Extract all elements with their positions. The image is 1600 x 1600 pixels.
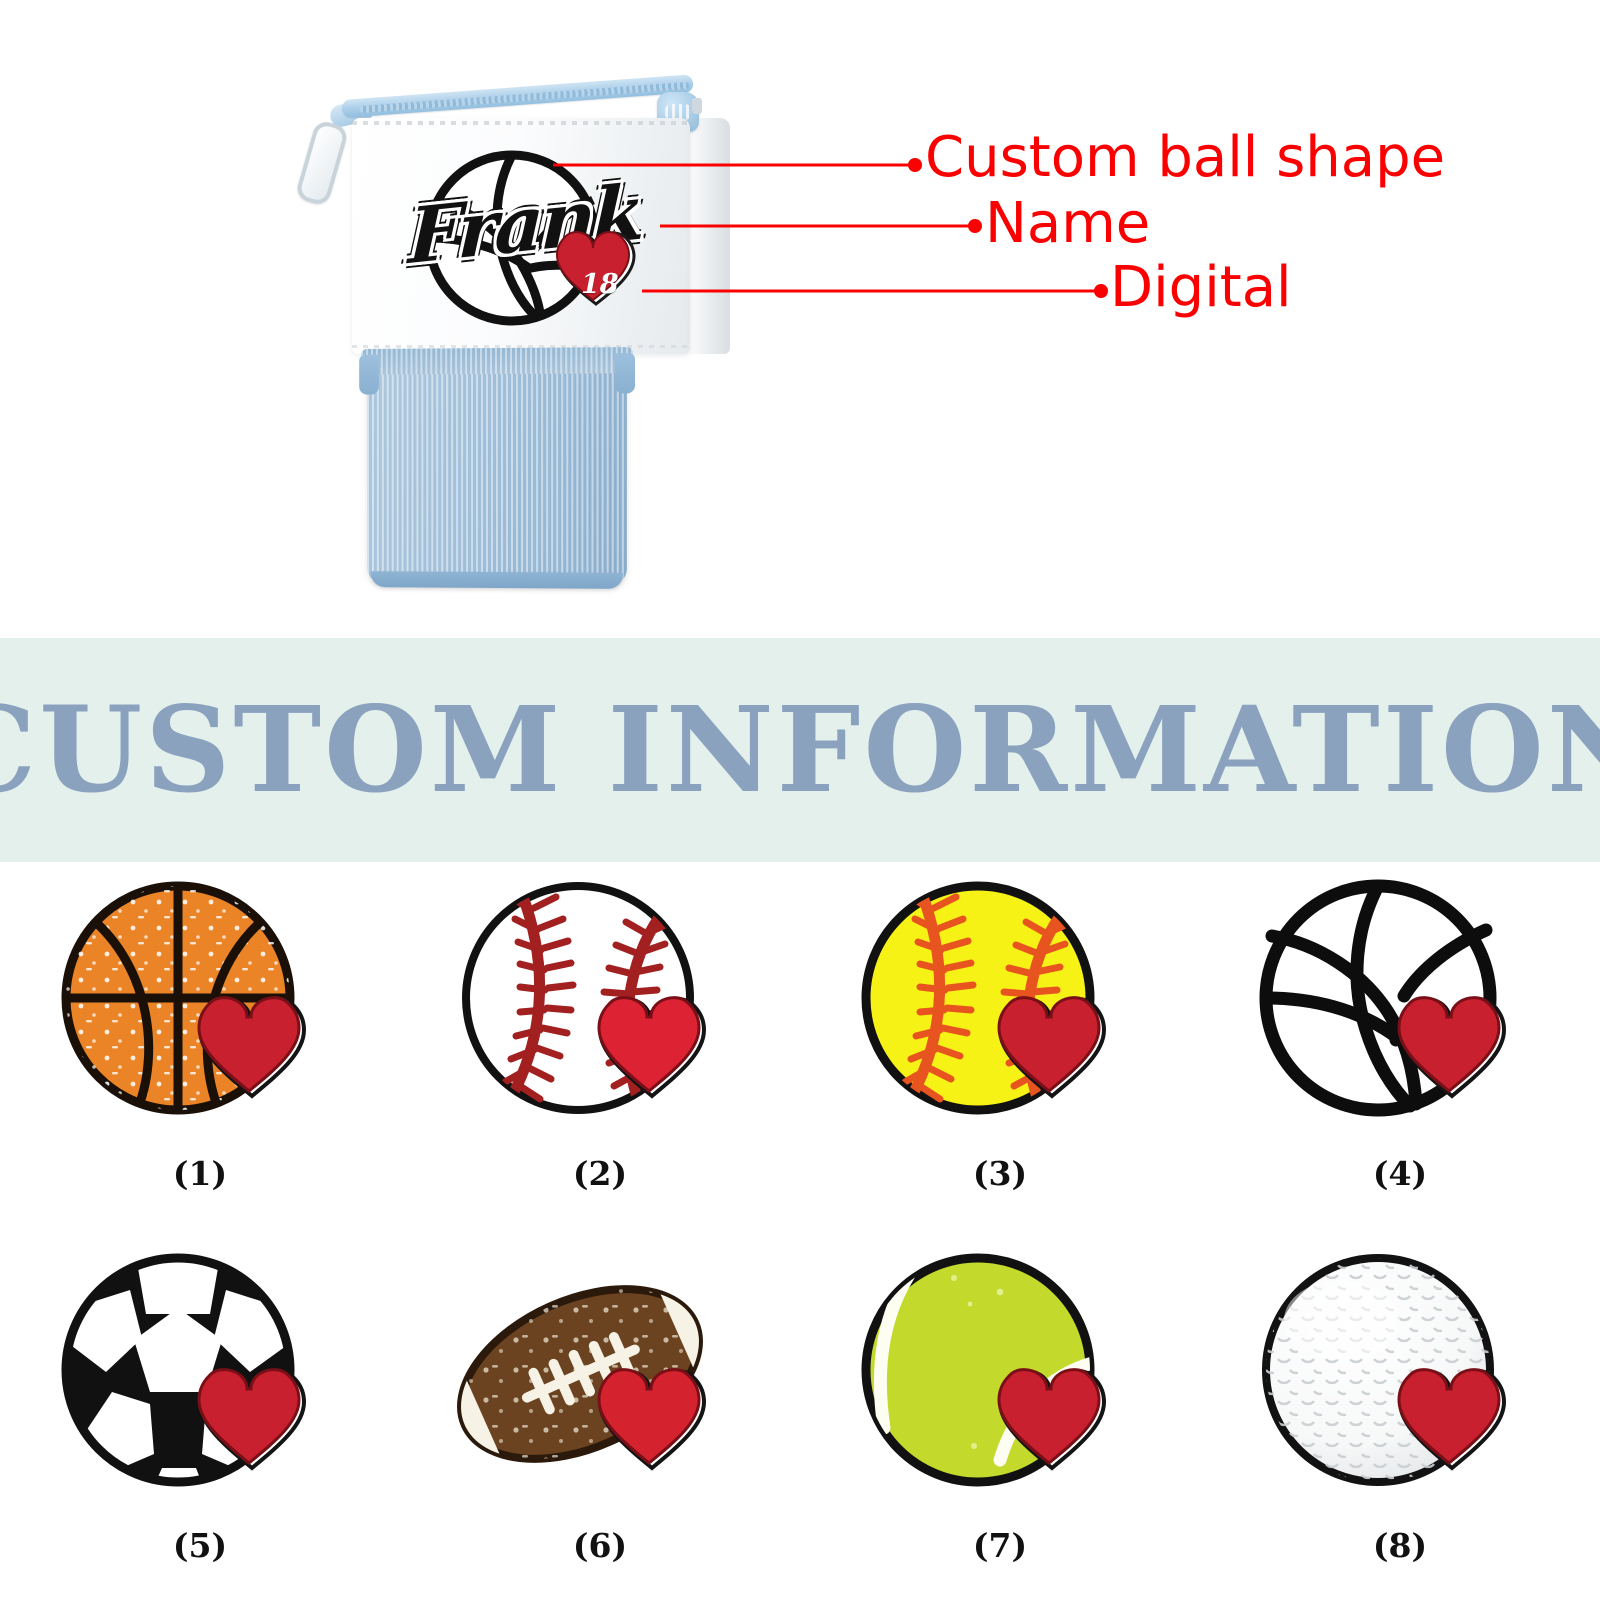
annotation-label-digital: Digital [1110, 260, 1292, 316]
tennis-ball-icon [850, 1242, 1150, 1524]
product-hero-section: Frank 18 [0, 0, 1600, 638]
football-icon [450, 1242, 750, 1524]
fabric-cuff-tab-left [359, 355, 379, 395]
option-caption: (4) [1373, 1154, 1427, 1193]
option-caption: (8) [1373, 1526, 1427, 1565]
leader-dot-name [968, 219, 982, 233]
upper-body-shading [684, 118, 730, 354]
printed-number-text: 18 [581, 269, 619, 300]
ball-option-baseball[interactable]: (2) [400, 862, 800, 1234]
fabric-base [371, 571, 623, 589]
soccer-ball-icon [50, 1242, 350, 1524]
option-caption: (5) [173, 1526, 227, 1565]
leader-dot-shape [908, 158, 922, 172]
ball-option-soccer-ball[interactable]: (5) [0, 1234, 400, 1600]
product-customization-page: Frank 18 [0, 0, 1600, 1600]
fabric-cuff-tab-right [615, 353, 635, 393]
annotation-label-custom-ball-shape: Custom ball shape [925, 130, 1445, 186]
pencil-case-fabric-body [367, 351, 627, 585]
volleyball-icon [1250, 870, 1550, 1152]
product-image: Frank 18 [300, 70, 730, 600]
ball-option-football[interactable]: (6) [400, 1234, 800, 1600]
option-caption: (3) [973, 1154, 1027, 1193]
golf-ball-icon [1250, 1242, 1550, 1524]
custom-information-banner: CUSTOM INFORMATION [0, 638, 1600, 862]
softball-icon [850, 870, 1150, 1152]
option-caption: (7) [973, 1526, 1027, 1565]
annotation-label-name: Name [985, 196, 1150, 252]
printed-design: Frank 18 [400, 138, 660, 338]
annotation-leader-lines: Custom ball shape Name Digital [0, 0, 1600, 638]
leader-dot-digital [1094, 284, 1108, 298]
banner-title: CUSTOM INFORMATION [0, 691, 1600, 809]
ball-option-softball[interactable]: (3) [800, 862, 1200, 1234]
basketball-icon [50, 870, 350, 1152]
baseball-icon [450, 870, 750, 1152]
printed-heart-icon [400, 138, 660, 338]
option-caption: (2) [573, 1154, 627, 1193]
ball-option-golf-ball[interactable]: (8) [1200, 1234, 1600, 1600]
ball-style-options-grid: (1) [0, 862, 1600, 1600]
option-caption: (6) [573, 1526, 627, 1565]
ball-option-basketball[interactable]: (1) [0, 862, 400, 1234]
ball-option-volleyball[interactable]: (4) [1200, 862, 1600, 1234]
zipper-pull-tab [294, 119, 349, 207]
fabric-cuff [361, 347, 633, 375]
zipper-stop [692, 98, 702, 114]
option-caption: (1) [173, 1154, 227, 1193]
ball-option-tennis-ball[interactable]: (7) [800, 1234, 1200, 1600]
